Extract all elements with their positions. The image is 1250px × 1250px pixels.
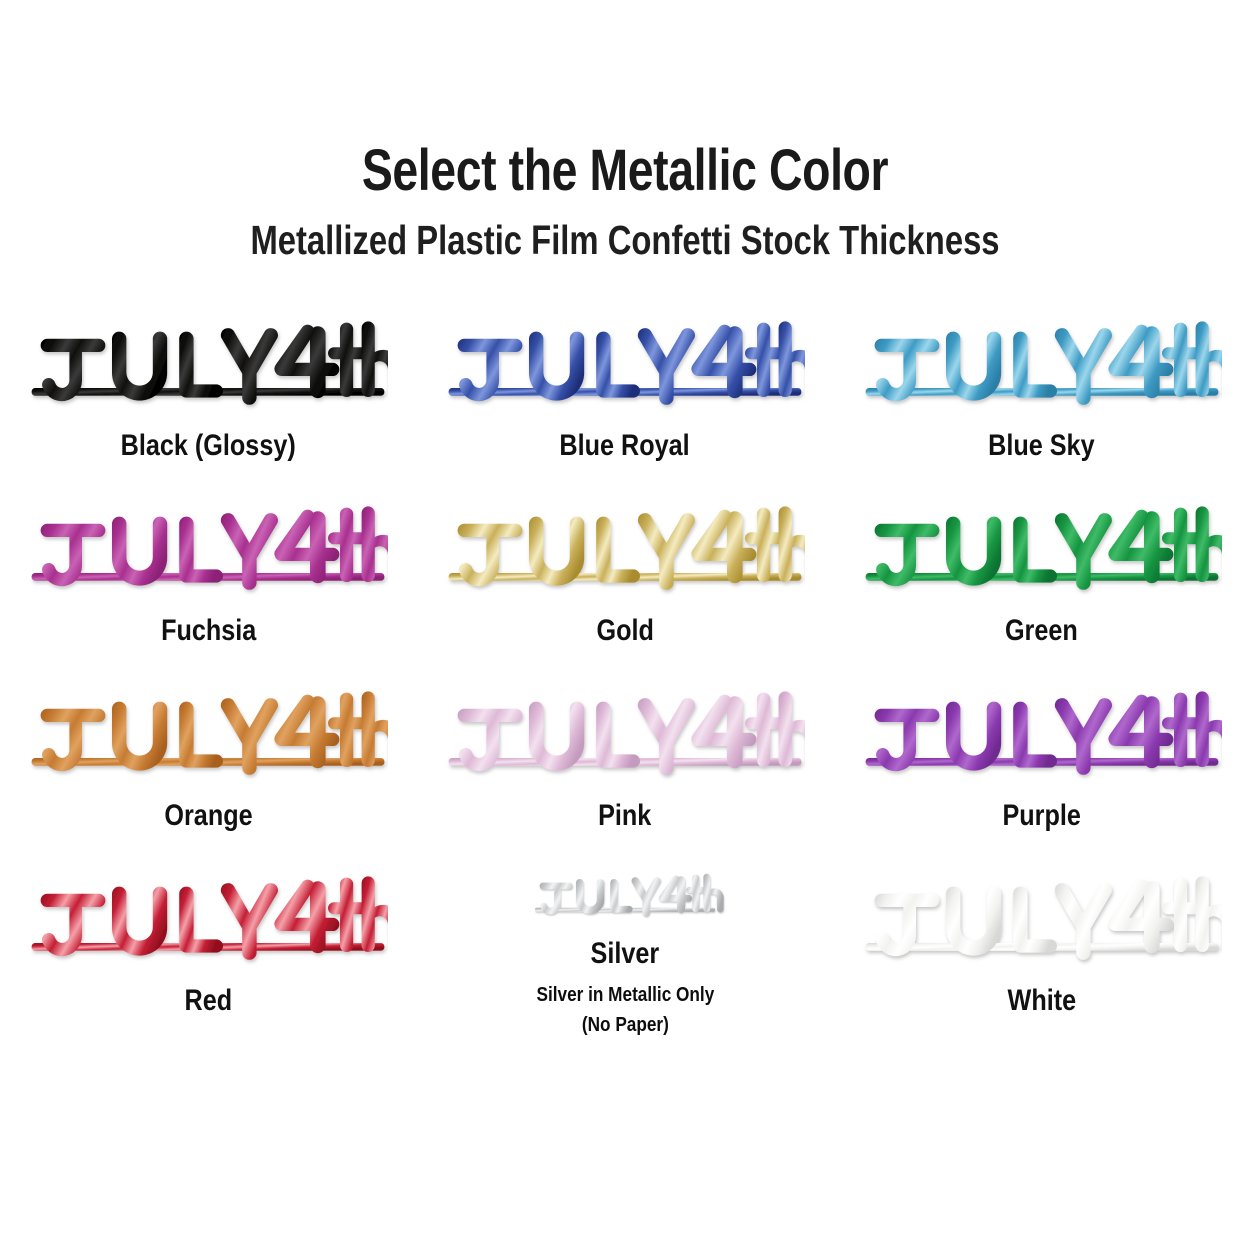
color-name-label: Blue Sky [988,430,1094,462]
july-4th-confetti-icon [28,871,388,967]
color-swatch-blue-royal[interactable]: Blue Royal [417,300,834,485]
july-4th-confetti-icon [862,501,1222,597]
july-4th-confetti-icon [445,501,805,597]
color-name-label: Purple [1002,800,1080,832]
color-swatch-blue-sky[interactable]: Blue Sky [833,300,1250,485]
july-4th-confetti-icon [445,316,805,412]
july-4th-confetti-icon [862,316,1222,412]
color-swatch-grid: Black (Glossy) [0,300,1250,1040]
color-swatch-orange[interactable]: Orange [0,670,417,855]
july-4th-confetti-icon [445,686,805,782]
color-swatch-black-glossy[interactable]: Black (Glossy) [0,300,417,485]
page-header: Select the Metallic Color Metallized Pla… [0,0,1250,264]
july-4th-confetti-icon [28,316,388,412]
july-4th-confetti-icon [28,686,388,782]
color-name-label: Blue Royal [560,430,690,462]
color-name-label: Green [1005,615,1078,647]
color-swatch-purple[interactable]: Purple [833,670,1250,855]
page-title: Select the Metallic Color [125,140,1125,202]
color-availability-note: Silver in Metallic Only (No Paper) [536,980,714,1040]
color-swatch-pink[interactable]: Pink [417,670,834,855]
july-4th-confetti-icon [445,871,805,920]
color-swatch-gold[interactable]: Gold [417,485,834,670]
color-note-line-1: Silver in Metallic Only [536,980,714,1010]
color-name-label: Black (Glossy) [121,430,296,462]
july-4th-confetti-icon [862,686,1222,782]
color-name-label: Silver [591,938,660,970]
color-name-label: Pink [598,800,651,832]
color-swatch-white[interactable]: White [833,855,1250,1040]
page-subtitle: Metallized Plastic Film Confetti Stock T… [125,216,1125,264]
color-swatch-silver[interactable]: Silver Silver in Metallic Only (No Paper… [417,855,834,1040]
july-4th-confetti-icon [862,871,1222,967]
color-name-label: Orange [164,800,252,832]
color-name-label: Gold [596,615,653,647]
color-note-line-2: (No Paper) [536,1010,714,1040]
color-swatch-fuchsia[interactable]: Fuchsia [0,485,417,670]
color-name-label: White [1007,985,1076,1017]
color-swatch-green[interactable]: Green [833,485,1250,670]
color-swatch-red[interactable]: Red [0,855,417,1040]
color-name-label: Red [185,985,233,1017]
july-4th-confetti-icon [28,501,388,597]
color-name-label: Fuchsia [161,615,256,647]
